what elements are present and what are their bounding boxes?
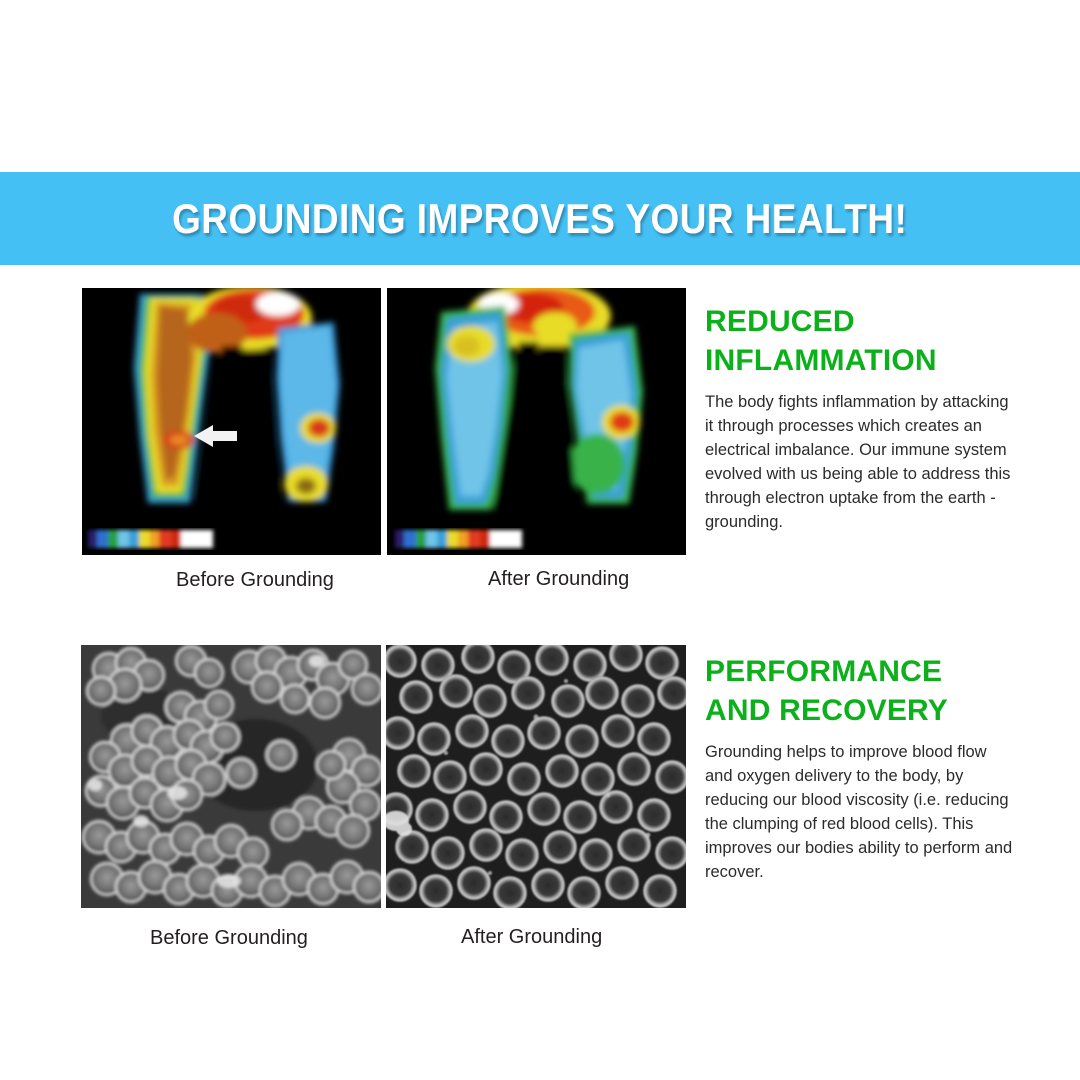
thermal-before-caption: Before Grounding [176,569,334,592]
section-performance-and-recovery: PERFORMANCE AND RECOVERY Grounding helps… [705,652,1013,884]
thermal-after-caption: After Grounding [488,568,629,591]
infographic-page: GROUNDING IMPROVES YOUR HEALTH! [0,0,1080,1080]
page-title: GROUNDING IMPROVES YOUR HEALTH! [172,195,907,243]
section-2-body: Grounding helps to improve blood flow an… [705,740,1013,884]
section-2-heading: PERFORMANCE AND RECOVERY [705,652,1013,730]
section-reduced-inflammation: REDUCED INFLAMMATION The body fights inf… [705,302,1013,534]
thermal-before-image [82,288,381,555]
blood-cell-figure [81,645,686,908]
blood-before-caption: Before Grounding [150,927,308,950]
section-1-heading: REDUCED INFLAMMATION [705,302,1013,380]
blood-before-graphic [81,645,381,908]
blood-after-graphic [386,645,686,908]
blood-after-caption: After Grounding [461,926,602,949]
section-2-heading-line-2: AND RECOVERY [705,691,1013,730]
section-1-body: The body fights inflammation by attackin… [705,390,1013,534]
thermal-image-figure [82,288,686,555]
section-1-heading-line-1: REDUCED [705,302,1013,341]
thermal-after-graphic [387,288,686,555]
section-1-heading-line-2: INFLAMMATION [705,341,1013,380]
header-banner: GROUNDING IMPROVES YOUR HEALTH! [0,172,1080,265]
thermal-scale-bar-after [395,530,522,548]
thermal-before-graphic [82,288,381,555]
thermal-after-image [387,288,686,555]
blood-before-image [81,645,381,908]
thermal-scale-bar-before [88,530,213,548]
blood-after-image [386,645,686,908]
section-2-heading-line-1: PERFORMANCE [705,652,1013,691]
